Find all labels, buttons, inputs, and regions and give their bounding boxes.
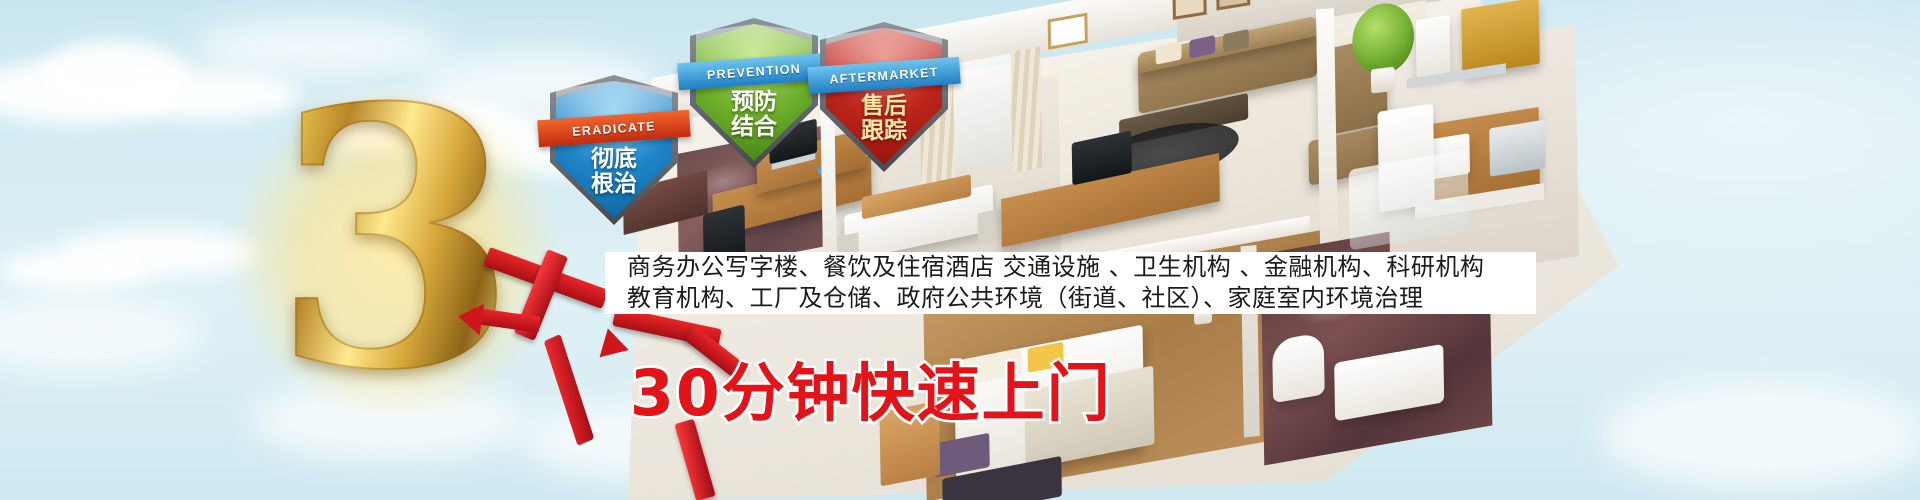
shield-chinese-label: 彻底 根治	[550, 147, 678, 197]
shield-eradicate: ERADICATE 彻底 根治	[550, 75, 678, 225]
red-arrow-head	[593, 325, 628, 357]
headline-text: 30分钟快速上门	[630, 343, 1112, 434]
service-scope-panel: 商务办公写字楼、餐饮及住宿酒店 交通设施 、卫生机构 、金融机构、科研机构 教育…	[605, 252, 1536, 314]
shield-chinese-label: 预防 结合	[690, 90, 818, 140]
shield-chinese-line2: 跟踪	[820, 119, 948, 144]
shield-chinese-line1: 售后	[820, 94, 948, 119]
service-scope-line-1: 商务办公写字楼、餐饮及住宿酒店 交通设施 、卫生机构 、金融机构、科研机构	[605, 252, 1536, 283]
ribbon-arrow-head	[456, 300, 484, 335]
shield-chinese-line2: 结合	[690, 115, 818, 140]
shield-chinese-line1: 预防	[690, 90, 818, 115]
shield-aftermarket: AFTERMARKET 售后 跟踪	[820, 22, 948, 172]
shield-chinese-label: 售后 跟踪	[820, 94, 948, 144]
service-scope-line-2: 教育机构、工厂及仓储、政府公共环境（街道、社区）、家庭室内环境治理	[605, 283, 1536, 314]
shield-prevention: PREVENTION 预防 结合	[690, 18, 818, 168]
shield-chinese-line2: 根治	[550, 172, 678, 197]
shield-chinese-line1: 彻底	[550, 147, 678, 172]
promo-banner: 3 ERADICATE 彻底 根治 PREVENTION 预防 结合	[0, 0, 1920, 500]
golden-numeral-three: 3	[230, 90, 560, 420]
